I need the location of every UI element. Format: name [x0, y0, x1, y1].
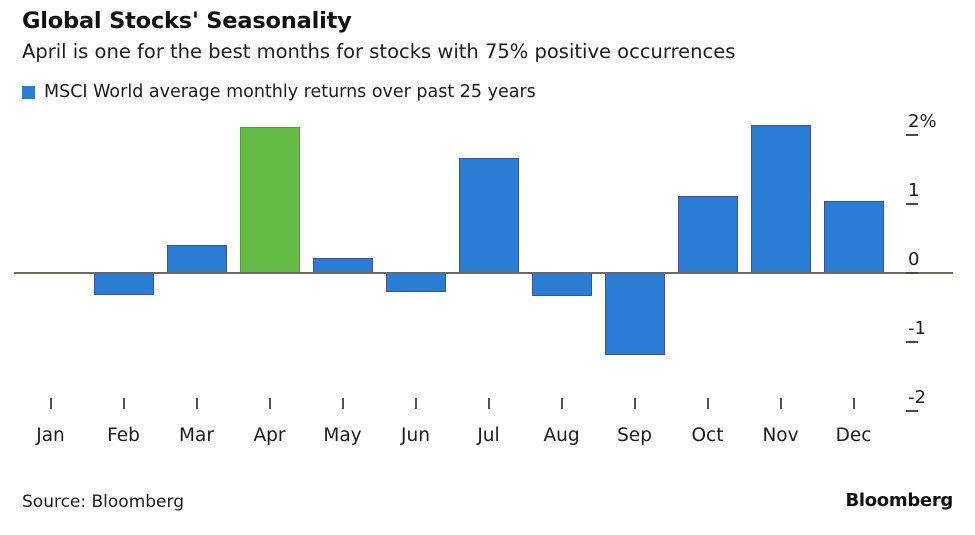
x-axis-tick-mark: [707, 398, 709, 409]
bar-nov: [751, 125, 811, 273]
bar-apr: [240, 127, 300, 273]
bar-dec: [824, 201, 884, 273]
y-axis-tick-label: -2: [908, 389, 926, 407]
x-axis-tick-mark: [780, 398, 782, 409]
x-axis-tick-mark: [196, 398, 198, 409]
source-note: Source: Bloomberg: [22, 492, 184, 512]
x-axis-tick-label: Apr: [253, 427, 285, 446]
x-axis-tick-label: May: [323, 427, 361, 446]
y-axis-tick-mark: [906, 410, 918, 412]
x-axis-tick-mark: [342, 398, 344, 409]
y-axis-tick-label: 2%: [908, 113, 937, 131]
x-axis-tick-label: Dec: [836, 427, 872, 446]
chart-page: Global Stocks' Seasonality April is one …: [0, 0, 975, 535]
y-axis-tick-mark: [906, 272, 918, 274]
y-axis-tick-mark: [906, 203, 918, 205]
zero-axis-line: [14, 272, 953, 274]
x-axis-tick-label: Sep: [617, 427, 652, 446]
bar-jun: [386, 273, 446, 292]
x-axis-tick-label: Jul: [477, 427, 499, 446]
brand-mark: Bloomberg: [845, 490, 953, 511]
x-axis-tick-label: Nov: [762, 427, 798, 446]
x-axis-tick-mark: [488, 398, 490, 409]
y-axis-tick-mark: [906, 134, 918, 136]
plot-area: 2%10-1-2 JanFebMarAprMayJunJulAugSepOctN…: [0, 0, 975, 470]
x-axis-tick-label: Oct: [692, 427, 724, 446]
x-axis-tick-mark: [415, 398, 417, 409]
x-axis-tick-mark: [269, 398, 271, 409]
x-axis-tick-mark: [634, 398, 636, 409]
x-axis-tick-label: Jan: [36, 427, 65, 446]
x-axis-tick-mark: [853, 398, 855, 409]
y-axis-tick-label: 1: [908, 182, 919, 200]
x-axis-tick-label: Jun: [401, 427, 430, 446]
x-axis-tick-mark: [123, 398, 125, 409]
bar-sep: [605, 273, 665, 355]
x-axis-tick-mark: [50, 398, 52, 409]
bar-may: [313, 258, 373, 273]
bar-mar: [167, 245, 227, 273]
x-axis-tick-mark: [561, 398, 563, 409]
bar-aug: [532, 273, 592, 296]
y-axis-tick-label: -1: [908, 320, 926, 338]
y-axis-tick-label: 0: [908, 251, 919, 269]
x-axis-tick-label: Mar: [179, 427, 214, 446]
bar-oct: [678, 196, 738, 273]
x-axis-tick-label: Feb: [107, 427, 140, 446]
bar-feb: [94, 273, 154, 295]
x-axis-tick-label: Aug: [543, 427, 579, 446]
y-axis-tick-mark: [906, 341, 918, 343]
bar-jul: [459, 158, 519, 273]
